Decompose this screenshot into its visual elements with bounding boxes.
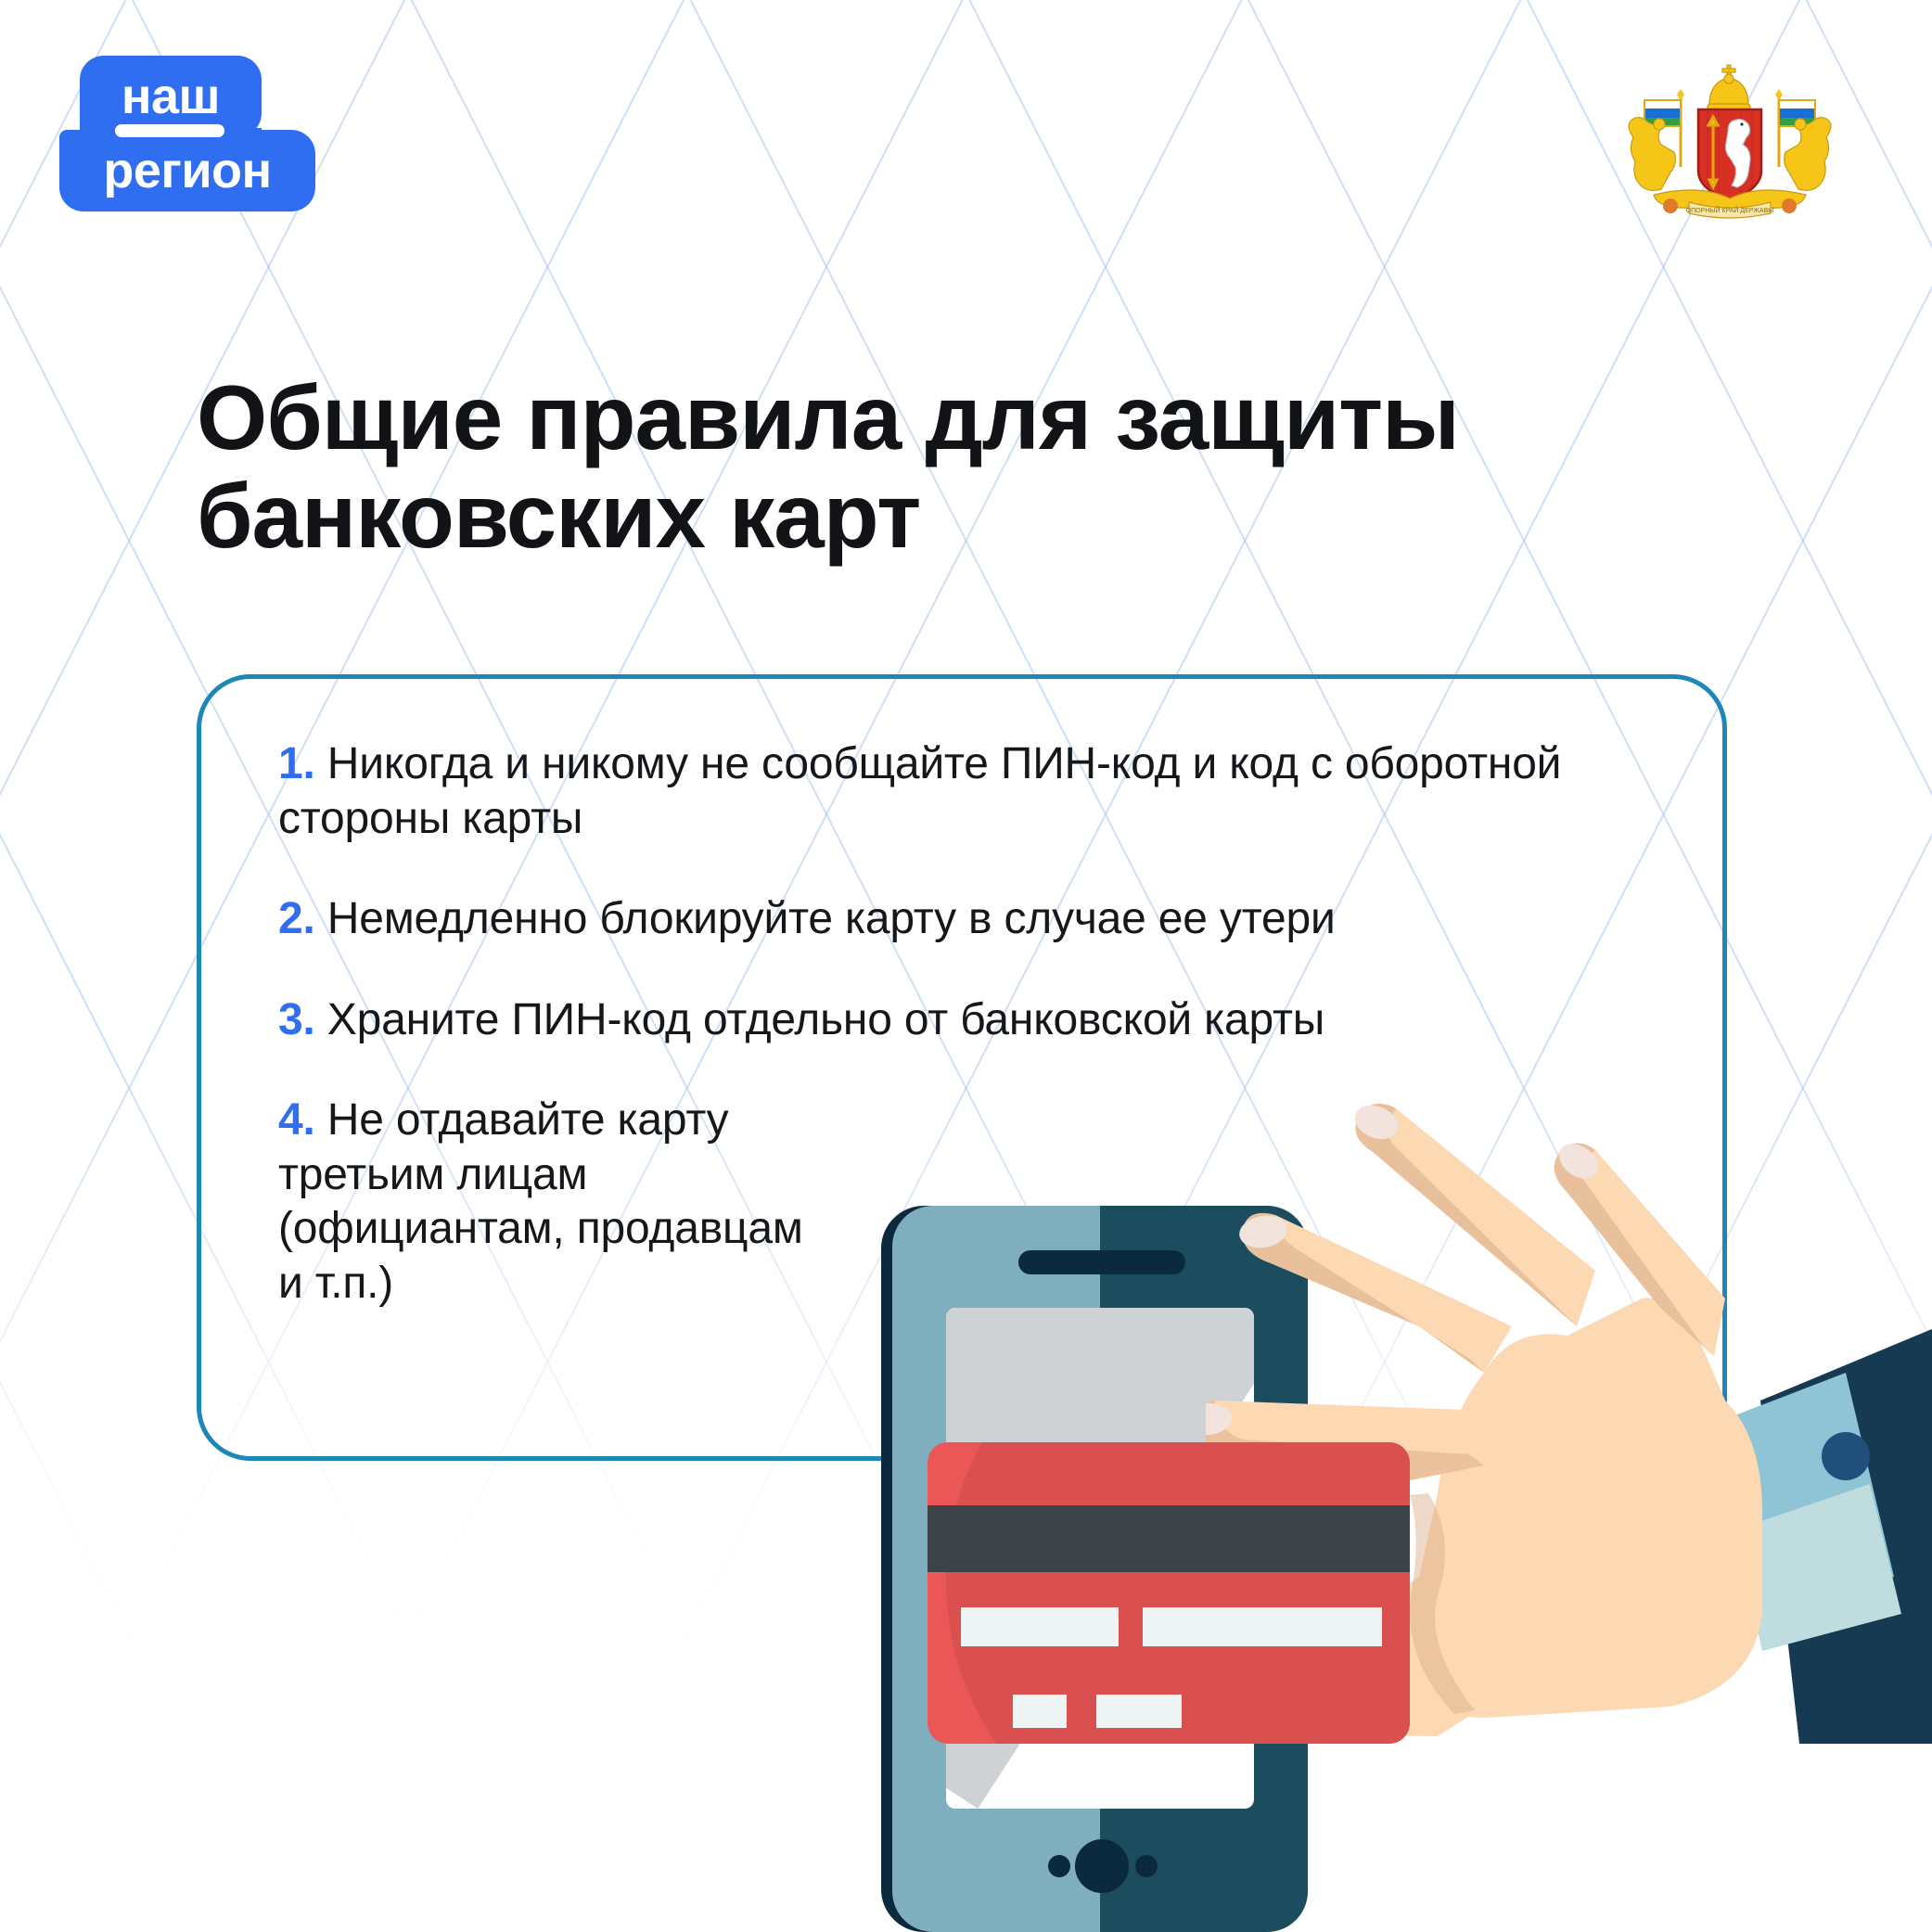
list-item-number: 2.	[278, 894, 315, 943]
logo-notch-cut	[115, 124, 224, 137]
card-face	[928, 1442, 1410, 1744]
card-field	[1096, 1695, 1182, 1728]
bank-card-icon	[928, 1442, 1410, 1744]
list-item-text: Храните ПИН-код отдельно от банковской к…	[327, 995, 1324, 1044]
page-title-line-2: банковских карт	[197, 467, 1792, 566]
phone-sensor-right-icon	[1135, 1855, 1158, 1877]
list-item-text: Не отдавайте карту третьим лицам (официа…	[278, 1095, 803, 1308]
phone-sensor-left-icon	[1048, 1855, 1070, 1877]
hand-holding-bank-card-over-phone-illustration	[835, 1094, 1932, 1932]
list-item-number: 3.	[278, 995, 315, 1044]
list-item-number: 1.	[278, 739, 315, 788]
list-item-number: 4.	[278, 1095, 315, 1145]
phone-speaker	[1018, 1250, 1185, 1274]
card-magnetic-stripe	[928, 1505, 1410, 1572]
list-item: 1. Никогда и никому не сообщайте ПИН-код…	[278, 737, 1725, 846]
list-item: 2. Немедленно блокируйте карту в случае …	[278, 892, 1725, 947]
card-field	[961, 1607, 1119, 1646]
list-item: 4. Не отдавайте карту третьим лицам (офи…	[278, 1094, 835, 1311]
list-item-text: Никогда и никому не сообщайте ПИН-код и …	[278, 739, 1561, 843]
logo-line-2: регион	[59, 130, 315, 211]
list-item: 3. Храните ПИН-код отдельно от банковско…	[278, 993, 1725, 1048]
sverdlovsk-oblast-coat-of-arms-icon: ОПОРНЫЙ КРАЙ ДЕРЖАВЫ	[1617, 48, 1843, 224]
card-field	[1013, 1695, 1067, 1728]
nash-region-logo[interactable]: наш регион	[59, 56, 338, 213]
emblem-motto: ОПОРНЫЙ КРАЙ ДЕРЖАВЫ	[1686, 206, 1774, 214]
page-title-line-1: Общие правила для защиты	[197, 369, 1792, 467]
card-field	[1143, 1607, 1382, 1646]
phone-home-button[interactable]	[1075, 1839, 1129, 1893]
list-item-text: Немедленно блокируйте карту в случае ее …	[327, 894, 1336, 943]
page-title: Общие правила для защиты банковских карт	[197, 369, 1792, 566]
sleeve-button-icon	[1822, 1432, 1870, 1480]
